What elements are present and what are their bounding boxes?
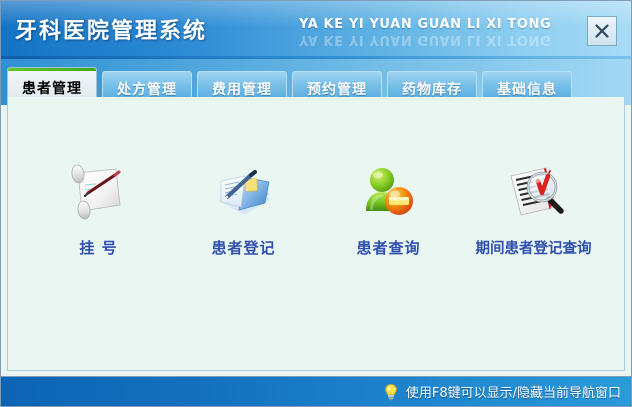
app-subtitle-reflection: YA KE YI YUAN GUAN LI XI TONG [299,32,551,47]
shortcut-label: 挂 号 [79,237,117,258]
tab-label: 处方管理 [117,79,177,99]
shortcut-grid: 挂 号 [8,159,624,258]
tab-label: 患者管理 [22,78,82,98]
status-bar: 使用F8键可以显示/隐藏当前导航窗口 [1,376,631,406]
shortcut-patient-query[interactable]: 患者查询 [316,159,461,258]
lightbulb-icon [383,383,399,401]
content-panel: 挂 号 [7,97,625,371]
tab-label: 预约管理 [307,79,367,99]
tab-label: 基础信息 [497,79,557,99]
shortcut-patient-registration[interactable]: 患者登记 [171,159,316,258]
shortcut-period-registration-query[interactable]: 期间患者登记查询 [461,159,606,258]
shortcut-label: 患者查询 [356,237,420,258]
status-hint-text: 使用F8键可以显示/隐藏当前导航窗口 [406,382,621,401]
app-subtitle: YA KE YI YUAN GUAN LI XI TONG [299,17,551,32]
page-title: 牙科医院管理系统 [15,13,207,45]
shortcut-label: 患者登记 [211,237,275,258]
shortcut-label: 期间患者登记查询 [476,237,592,258]
status-hint: 使用F8键可以显示/隐藏当前导航窗口 [383,382,621,401]
scroll-pen-icon [66,159,132,223]
user-search-icon [356,159,422,223]
close-button[interactable] [587,16,617,46]
notebook-pen-icon [211,159,277,223]
document-magnifier-icon [501,159,567,223]
title-bar: 牙科医院管理系统 YA KE YI YUAN GUAN LI XI TONG Y… [1,1,631,59]
close-x-icon [593,22,611,40]
application-window: 牙科医院管理系统 YA KE YI YUAN GUAN LI XI TONG Y… [0,0,632,407]
tab-label: 费用管理 [212,79,272,99]
shortcut-registration[interactable]: 挂 号 [26,159,171,258]
tab-label: 药物库存 [402,79,462,99]
